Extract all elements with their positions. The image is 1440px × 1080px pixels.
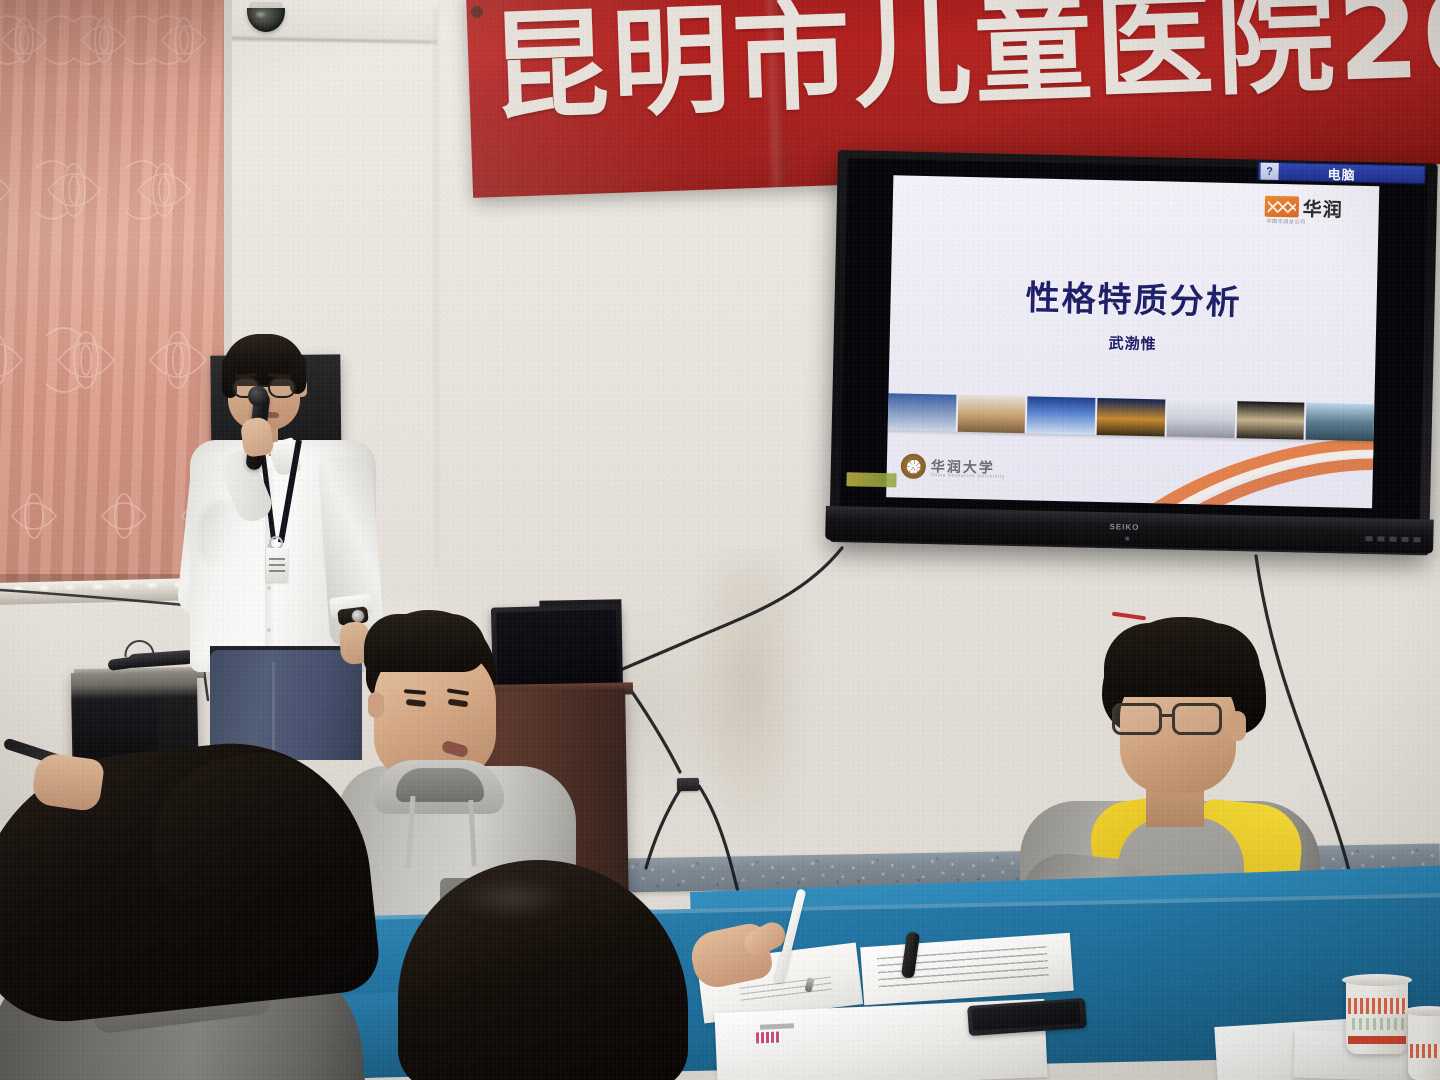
audience-ear bbox=[368, 692, 384, 718]
paper-cup-printed-text bbox=[1352, 1018, 1404, 1030]
glasses-bridge bbox=[1162, 714, 1174, 717]
huarun-mark-icon bbox=[1265, 196, 1299, 218]
shirt-button bbox=[267, 586, 271, 590]
id-badge-line bbox=[269, 564, 285, 566]
tv-osd-input-label: 电脑 bbox=[1257, 163, 1425, 186]
photo-thumb-office-building bbox=[888, 393, 957, 432]
huarun-wordmark: 华润 bbox=[1302, 195, 1343, 223]
glasses-red-temple-arm bbox=[1112, 612, 1146, 621]
eyeglasses-red-temple-icon bbox=[1110, 703, 1234, 737]
paper-logo-mark bbox=[756, 1031, 780, 1043]
wall-corner-edge bbox=[432, 8, 437, 568]
curtain-top-shadow bbox=[0, 0, 224, 90]
huarun-subtitle: 中国华润总公司 bbox=[1266, 218, 1305, 226]
glasses-lens-left bbox=[1112, 703, 1162, 735]
audience-hair-fringe bbox=[1104, 623, 1260, 697]
university-seal-icon bbox=[901, 454, 927, 480]
microphone-head-icon bbox=[248, 386, 268, 406]
paper-cup-rim bbox=[1342, 974, 1412, 986]
photo-thumb-textile-machinery bbox=[1236, 401, 1305, 440]
tv-osd-badge-icon: ? bbox=[1260, 163, 1278, 180]
tv-brand-plate: SEIKO bbox=[1109, 522, 1139, 532]
photo-thumb-modern-arena bbox=[1166, 400, 1235, 439]
footer-logo-huarun-university: 华润大学 China Resources University bbox=[900, 453, 1051, 486]
paper-cup-stripe-band bbox=[1348, 998, 1406, 1014]
banner-text: 昆明市儿童医院2017年度 bbox=[489, 0, 1440, 127]
brand-logo-huarun: 华润 中国华润总公司 bbox=[1264, 192, 1373, 230]
presentation-slide: 性格特质分析 武渤惟 华润 中国华润总公司 华润大学 China Res bbox=[886, 175, 1379, 508]
photo-thumb-power-plant bbox=[1027, 396, 1096, 435]
conference-room-photo: 昆明市儿童医院2017年度 性格特质分析 武渤惟 bbox=[0, 0, 1440, 1080]
slide-title: 性格特质分析 bbox=[890, 267, 1377, 327]
slide-author: 武渤惟 bbox=[890, 327, 1376, 359]
id-badge-line bbox=[269, 570, 285, 572]
shirt-button bbox=[267, 628, 271, 632]
hoodie-hood-opening bbox=[396, 768, 484, 802]
wall-power-socket bbox=[677, 778, 699, 791]
paper-cup-red-band bbox=[1348, 1036, 1406, 1044]
audience-hair-front bbox=[364, 614, 486, 672]
camera-lens-glint bbox=[256, 12, 265, 17]
hair-highlight bbox=[458, 878, 568, 918]
university-subtitle: China Resources University bbox=[931, 473, 1006, 480]
glasses-lens-right bbox=[1172, 703, 1222, 735]
tv-energy-label-sticker bbox=[846, 472, 896, 487]
audience-member-foreground-center bbox=[398, 860, 698, 1080]
photo-thumb-gas-storage-tanks bbox=[1306, 403, 1375, 442]
wall-mounted-tv[interactable]: 性格特质分析 武渤惟 华润 中国华润总公司 华润大学 China Res bbox=[829, 150, 1438, 556]
trouser-crease bbox=[272, 662, 275, 760]
paper-cup-stripe-band bbox=[1410, 1044, 1440, 1058]
glasses-lens-right bbox=[268, 377, 296, 398]
monitor-edge-glint bbox=[88, 614, 100, 617]
id-badge-line bbox=[269, 558, 285, 560]
photo-thumb-retail-interior bbox=[957, 395, 1026, 434]
photo-thumb-night-street-shops bbox=[1097, 398, 1166, 437]
